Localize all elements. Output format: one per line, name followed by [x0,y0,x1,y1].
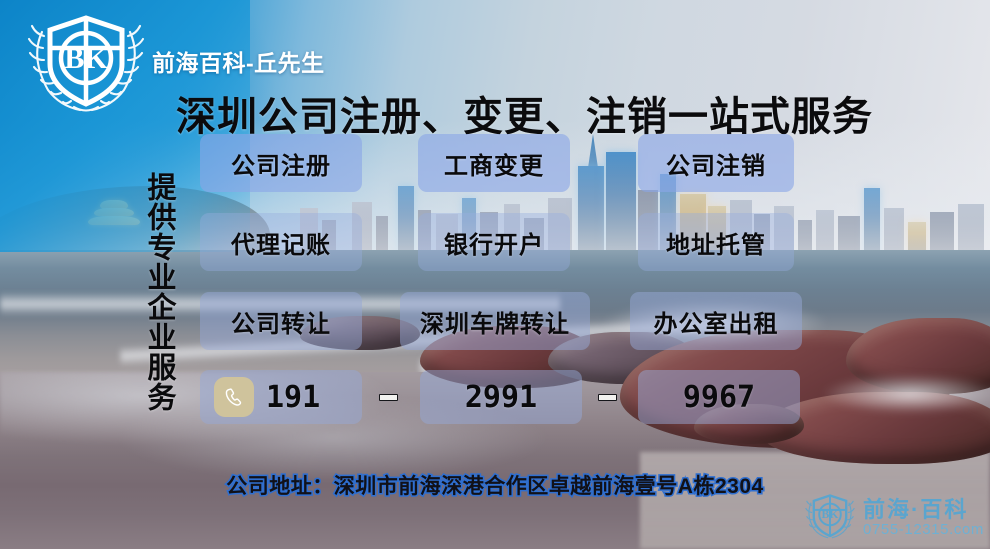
bk-shield-logo: BK [22,6,150,118]
phone-chip-part1[interactable]: 191 [200,370,362,424]
vertical-slogan: 提供专业企业服务 [133,172,173,412]
phone-separator-2 [598,394,617,401]
phone-separator-1 [379,394,398,401]
service-button-address-hosting[interactable]: 地址托管 [638,213,794,271]
rock-surf-mist-2 [820,374,990,414]
svg-text:BK: BK [64,42,108,75]
service-button-company-transfer[interactable]: 公司转让 [200,292,362,350]
service-button-agency-bookkeeping[interactable]: 代理记账 [200,213,362,271]
phone-number-part3: 9967 [683,380,755,415]
poster-canvas: BK 前海百科-丘先生 深圳公司注册、变更、注销一站式服务 提供专业企业服务 公… [0,0,990,549]
phone-number-part1: 191 [266,380,320,415]
service-button-company-deregistration[interactable]: 公司注销 [638,134,794,192]
service-button-bank-account[interactable]: 银行开户 [418,213,570,271]
watermark: BK 前海·百科 0755-12315.com [803,491,984,545]
service-button-office-rental[interactable]: 办公室出租 [630,292,802,350]
phone-chip-part2[interactable]: 2991 [420,370,582,424]
bk-shield-watermark: BK [803,491,857,545]
phone-chip-part3[interactable]: 9967 [638,370,800,424]
service-button-shenzhen-plate-transfer[interactable]: 深圳车牌转让 [400,292,590,350]
service-button-business-change[interactable]: 工商变更 [418,134,570,192]
brand-subtitle: 前海百科-丘先生 [152,44,325,78]
watermark-name: 前海·百科 [863,499,984,522]
service-button-company-registration[interactable]: 公司注册 [200,134,362,192]
phone-number-part2: 2991 [465,380,537,415]
watermark-url: 0755-12315.com [863,522,984,538]
svg-text:BK: BK [822,508,839,521]
phone-handset-icon [214,377,254,417]
